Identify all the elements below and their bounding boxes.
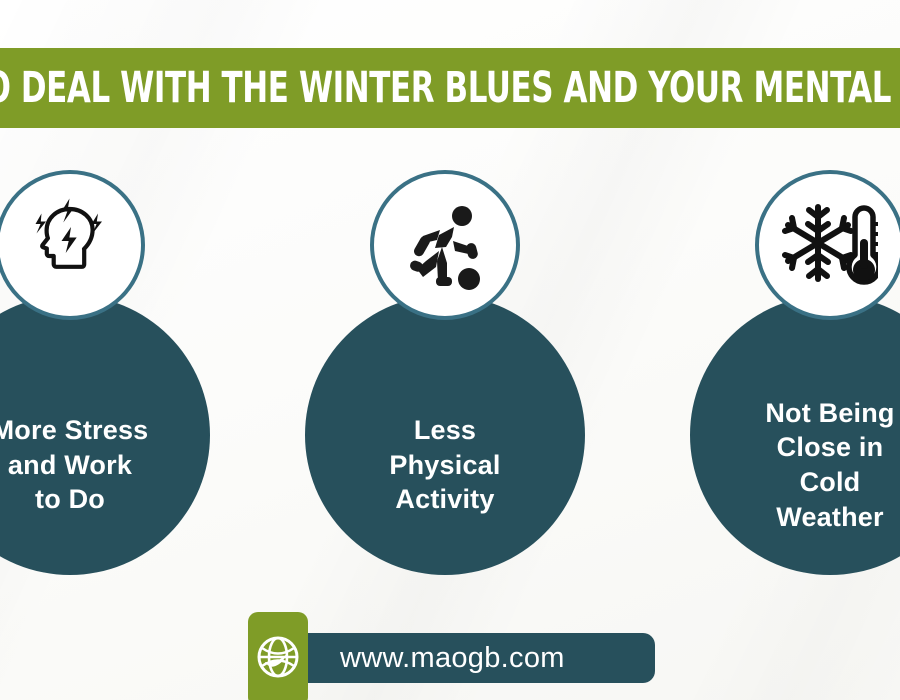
- footer-url-bar[interactable]: www.maogb.com: [290, 633, 655, 683]
- footer: www.maogb.com: [248, 612, 658, 700]
- card-icon-circle: [370, 170, 520, 320]
- title-banner: HOW TO DEAL WITH THE WINTER BLUES AND YO…: [0, 48, 900, 128]
- card-more-stress[interactable]: More Stress and Work to Do: [0, 295, 210, 575]
- card-label: Not Being Close in Cold Weather: [690, 295, 900, 575]
- card-cold-weather[interactable]: Not Being Close in Cold Weather: [690, 295, 900, 575]
- infographic-canvas: HOW TO DEAL WITH THE WINTER BLUES AND YO…: [0, 0, 900, 700]
- card-label: More Stress and Work to Do: [0, 295, 210, 575]
- globe-icon: [256, 635, 300, 684]
- card-less-activity[interactable]: Less Physical Activity: [305, 295, 585, 575]
- card-icon-circle: [755, 170, 900, 320]
- head-lightning-stress-icon: [22, 197, 118, 293]
- card-label: Less Physical Activity: [305, 295, 585, 575]
- footer-logo-badge[interactable]: [248, 612, 308, 700]
- running-person-ball-icon: [399, 199, 491, 291]
- card-icon-circle: [0, 170, 145, 320]
- snowflake-thermometer-icon: [782, 199, 878, 291]
- page-title: HOW TO DEAL WITH THE WINTER BLUES AND YO…: [0, 67, 900, 110]
- website-url: www.maogb.com: [340, 642, 565, 675]
